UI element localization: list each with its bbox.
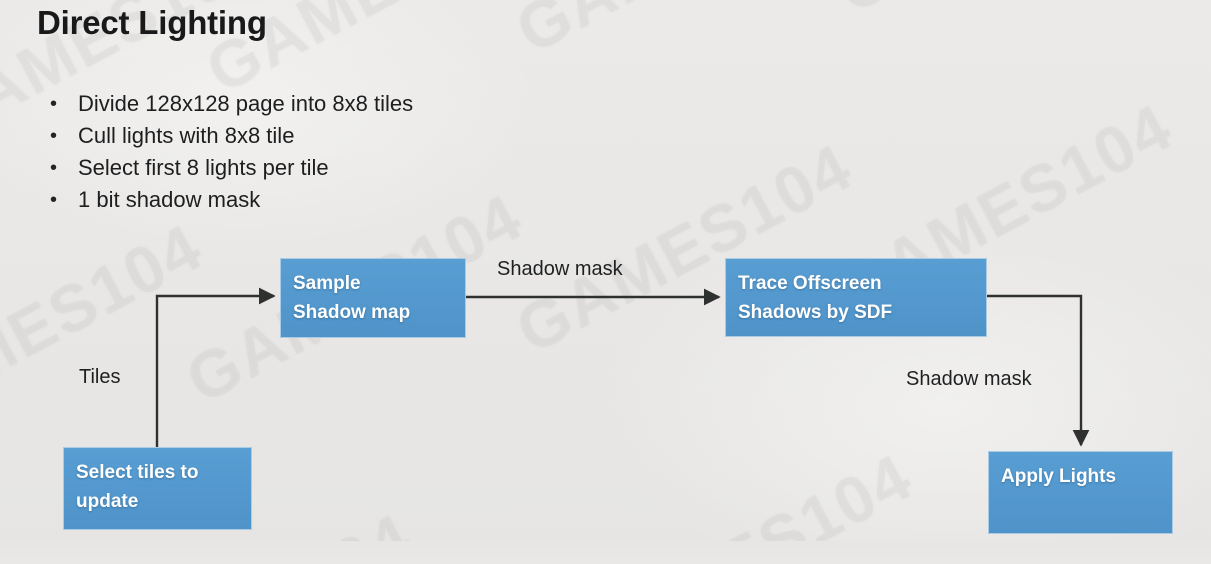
node-line-2: Shadow map [293,298,465,327]
slide-canvas: GAMES104 GAMES104 GAMES104 GAMES104 GAME… [0,0,1211,564]
node-apply-lights[interactable]: Apply Lights [988,451,1173,534]
node-trace-offscreen-shadows[interactable]: Trace Offscreen Shadows by SDF [725,258,987,337]
node-line-1: Apply Lights [1001,462,1172,491]
edge-label-shadow-mask-2: Shadow mask [906,368,1032,391]
node-sample-shadow-map[interactable]: Sample Shadow map [280,258,466,338]
node-line-1: Select tiles to [76,458,251,487]
edge-label-tiles: Tiles [79,366,120,389]
slide-bottom-band [0,541,1211,564]
node-line-2: update [76,487,251,516]
node-select-tiles-to-update[interactable]: Select tiles to update [63,447,252,530]
connector-select-tiles-to-sample [157,296,274,447]
node-line-1: Trace Offscreen [738,269,986,298]
node-line-1: Sample [293,269,465,298]
node-line-2: Shadows by SDF [738,298,986,327]
edge-label-shadow-mask-1: Shadow mask [497,258,623,281]
flow-diagram: Sample Shadow map Trace Offscreen Shadow… [0,0,1211,564]
